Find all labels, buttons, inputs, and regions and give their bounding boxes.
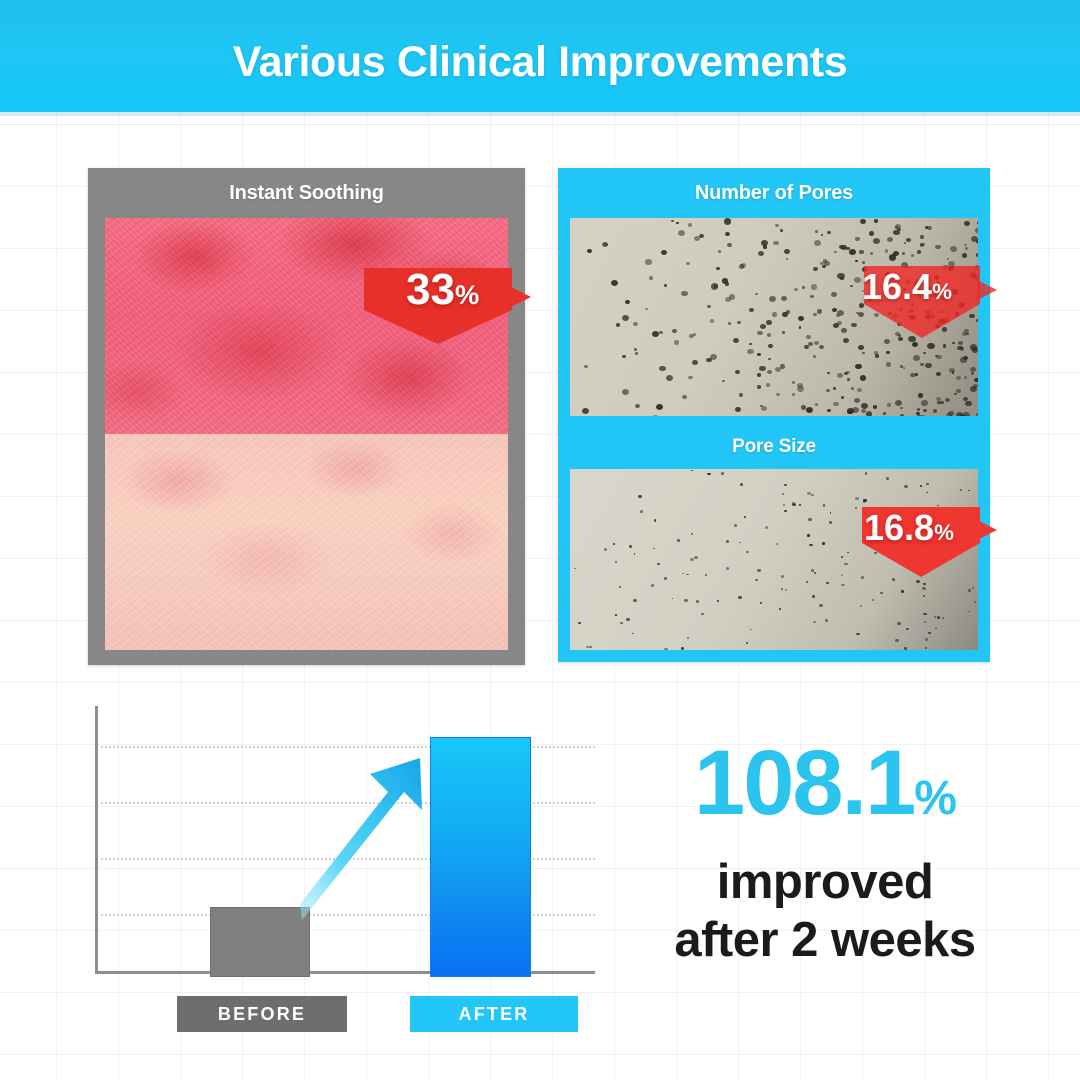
pore-dot [922, 587, 925, 590]
pore-dot [886, 351, 890, 354]
pore-dot [693, 333, 696, 336]
pore-dot [837, 373, 844, 379]
pore-dot [972, 347, 978, 353]
pore-dot [956, 389, 961, 393]
arrow-tail [977, 520, 997, 540]
pore-dot [831, 292, 837, 297]
pore-dot [687, 637, 690, 639]
pore-dot [784, 484, 786, 486]
pore-dot [694, 556, 698, 559]
pore-dot [971, 372, 975, 375]
pore-dot [812, 595, 815, 598]
pore-dot [809, 544, 812, 547]
pore-dot [873, 238, 880, 244]
pore-dot [968, 589, 972, 592]
pore-dot [779, 608, 782, 610]
skin-texture-overlay [105, 434, 508, 650]
pore-dot [711, 283, 719, 289]
pore-dot [760, 602, 763, 604]
pore-dot [917, 408, 920, 411]
pore-dot [857, 388, 863, 393]
pore-dot [975, 228, 978, 233]
pore-dot [813, 355, 817, 358]
pore-dot [724, 218, 731, 224]
pore-dot [807, 534, 811, 537]
pore-dot [968, 611, 970, 612]
pore-dot [672, 598, 674, 599]
pore-dot [705, 574, 707, 576]
pore-dot [678, 230, 685, 236]
pore-dot [786, 258, 789, 260]
pore-dot [962, 412, 969, 416]
pore-dot [735, 407, 741, 412]
pore-dot [664, 577, 667, 580]
pore-dot [634, 348, 637, 351]
pore-dot [874, 219, 878, 223]
header-banner: Various Clinical Improvements [0, 0, 1080, 112]
pore-dot [635, 404, 640, 409]
badge-value-pore-size: 16.8% [864, 507, 954, 549]
pore-dot [786, 310, 790, 314]
pore-dot [749, 343, 752, 345]
pore-dot [847, 410, 852, 414]
pore-dot [684, 599, 688, 602]
pore-dot [689, 334, 694, 338]
pore-dot [676, 222, 679, 225]
pore-dot [935, 628, 937, 630]
pore-dot [625, 300, 630, 304]
pore-dot [811, 284, 818, 290]
panel-instant-soothing: Instant Soothing [88, 168, 525, 665]
pore-dot [737, 321, 741, 324]
pore-dot [974, 601, 976, 603]
panel-title-instant-soothing: Instant Soothing [88, 168, 525, 218]
pore-dot [950, 246, 957, 252]
pore-dot [925, 647, 927, 649]
pore-dot [773, 241, 779, 246]
pore-dot [765, 526, 768, 529]
pore-dot [963, 356, 968, 360]
pore-dot [836, 314, 840, 317]
pore-dot [696, 600, 700, 603]
pore-dot [923, 409, 926, 412]
pore-dot [855, 237, 859, 241]
pore-dot [823, 504, 826, 506]
pore-dot [964, 244, 967, 246]
pore-dot [781, 296, 787, 301]
pore-dot [965, 247, 969, 250]
pore-dot [920, 485, 922, 487]
pore-dot [889, 254, 896, 260]
pore-dot [707, 473, 710, 476]
pore-dot [824, 261, 830, 266]
pore-dot [782, 493, 784, 495]
chart-y-axis [95, 706, 98, 974]
pore-dot [840, 277, 844, 280]
pore-dot [672, 329, 677, 333]
pore-dot [785, 589, 787, 591]
pore-dot [710, 319, 715, 323]
pore-dot [635, 352, 639, 355]
pore-dot [856, 633, 859, 636]
pore-dot [923, 613, 926, 616]
pore-dot [659, 366, 665, 371]
pore-dot [808, 518, 811, 521]
pore-dot [936, 372, 941, 376]
pore-dot [611, 280, 619, 286]
pore-dot [901, 590, 904, 592]
pore-dot [855, 507, 857, 509]
pore-dot [847, 378, 850, 381]
pore-dot [841, 556, 843, 558]
pore-dot [622, 389, 629, 395]
pore-dot [833, 387, 836, 390]
pore-dot [895, 639, 899, 642]
pore-dot [927, 343, 934, 349]
pore-dot [829, 521, 832, 524]
pore-dot [841, 584, 844, 587]
stat-caption-line1: improved [615, 853, 1035, 911]
pore-dot [664, 284, 668, 287]
pore-dot [801, 405, 807, 410]
pore-dot [584, 365, 588, 368]
pore-dot [854, 398, 861, 404]
pore-dot [884, 339, 890, 344]
pore-dot [843, 338, 849, 343]
panel-title-number-of-pores: Number of Pores [558, 168, 990, 218]
pore-dot [906, 628, 909, 630]
pore-dot [746, 642, 749, 644]
pore-dot [937, 616, 940, 619]
pore-dot [844, 372, 847, 375]
pore-dot [918, 393, 924, 398]
pore-dot [860, 219, 866, 224]
pore-dot [920, 243, 924, 247]
pore-dot [613, 543, 615, 545]
pore-dot [935, 245, 941, 250]
pore-dot [861, 403, 868, 409]
pore-dot [690, 558, 694, 561]
pore-dot [869, 231, 874, 236]
pore-dot [839, 245, 844, 249]
pore-dot [775, 224, 779, 227]
pore-dot [783, 504, 785, 506]
pore-dot [710, 354, 717, 360]
pore-dot [622, 355, 625, 358]
pore-dot [854, 277, 861, 283]
pore-dot [844, 563, 848, 566]
pore-dot [841, 396, 844, 399]
pore-dot [825, 619, 828, 622]
pore-dot [728, 322, 731, 325]
pore-dot [633, 322, 639, 327]
pore-dot [721, 472, 725, 475]
pore-dot [707, 305, 711, 308]
pore-dot [903, 367, 906, 369]
pore-dot [674, 340, 679, 345]
pore-dot [925, 363, 932, 369]
pore-dot [604, 243, 609, 247]
pore-dot [813, 267, 818, 271]
page-title: Various Clinical Improvements [0, 38, 1080, 86]
pore-dot [656, 404, 663, 410]
pore-dot [821, 234, 824, 236]
arrow-tail [509, 286, 531, 308]
pore-dot [851, 323, 857, 328]
pore-dot [645, 308, 648, 310]
pore-dot [814, 572, 816, 574]
pore-dot [923, 352, 926, 354]
pore-dot [651, 584, 654, 587]
pore-dot [928, 632, 931, 635]
pore-dot [739, 264, 744, 269]
pore-dot [734, 524, 738, 527]
growth-arrow-icon [300, 752, 440, 922]
pore-dot [911, 254, 914, 257]
pore-dot [861, 409, 866, 413]
pore-dot [681, 647, 684, 650]
pore-dot [883, 412, 886, 414]
pore-dot [574, 568, 576, 569]
pore-dot [923, 583, 926, 586]
pore-dot [833, 323, 839, 328]
pore-dot [942, 617, 944, 619]
pore-dot [859, 250, 863, 254]
pore-dot [892, 578, 895, 581]
pore-dot [880, 592, 883, 595]
pore-dot [629, 545, 633, 548]
pore-dot [682, 395, 687, 399]
pore-dot [850, 285, 853, 287]
pore-dot [925, 638, 928, 641]
pore-dot [833, 402, 839, 407]
pore-dot [749, 308, 754, 313]
pore-dot [784, 510, 787, 512]
pore-dot [735, 370, 740, 374]
pore-dot [586, 646, 589, 649]
pore-dot [895, 226, 898, 229]
pore-dot [886, 362, 892, 367]
pore-dot [768, 358, 772, 361]
pore-dot [620, 622, 623, 624]
pore-dot [977, 221, 978, 225]
pore-dot [798, 316, 804, 321]
pore-dot [739, 393, 743, 397]
pore-dot [780, 229, 783, 232]
pore-dot [659, 331, 663, 335]
pore-dot [886, 477, 890, 480]
badge-value-instant-soothing: 33% [406, 265, 479, 315]
pore-dot [827, 409, 831, 412]
pore-dot [691, 533, 693, 535]
pore-dot [810, 295, 814, 298]
pore-dot [616, 323, 621, 327]
skin-after-half [105, 434, 508, 650]
pore-dot [718, 250, 721, 253]
pore-dot [887, 237, 893, 242]
pore-dot [776, 393, 780, 396]
pore-dot [860, 605, 862, 607]
pore-dot [699, 234, 704, 238]
pore-dot [858, 345, 864, 350]
pore-dot [865, 472, 868, 474]
pore-dot [726, 540, 729, 543]
pore-dot [943, 344, 947, 347]
pore-dot [738, 596, 742, 599]
arrow-tail [977, 280, 997, 300]
pore-dot [664, 648, 668, 650]
pore-dot [958, 341, 963, 345]
pore-dot [750, 629, 752, 631]
pore-dot [957, 346, 962, 351]
pore-dot [926, 492, 928, 494]
pore-dot [769, 296, 776, 302]
pore-dot [763, 245, 768, 249]
pore-dot [622, 315, 629, 321]
pore-dot [900, 414, 904, 416]
pore-dot [692, 360, 698, 365]
pore-dot [615, 614, 617, 616]
pore-dot [634, 553, 636, 555]
pore-dot [906, 238, 911, 242]
pore-dot [917, 250, 922, 254]
pore-dot [755, 579, 758, 581]
pore-dot [863, 501, 865, 503]
pore-dot [902, 252, 906, 255]
pore-dot [893, 230, 899, 235]
pore-dot [632, 633, 634, 635]
pore-dot [940, 401, 944, 404]
pore-dot [965, 401, 972, 407]
pore-dot [815, 403, 818, 406]
pore-dot [722, 278, 729, 284]
arrow-head [364, 310, 512, 344]
pore-dot [633, 599, 637, 602]
pore-dot [870, 252, 874, 255]
pore-dot [686, 574, 688, 576]
pore-dot [968, 490, 970, 492]
pore-dot [757, 385, 761, 389]
pore-dot [972, 587, 975, 589]
pore-dot [688, 223, 693, 227]
pore-dot [976, 413, 978, 416]
pore-dot [872, 599, 875, 602]
pore-dot [847, 552, 849, 554]
pore-dot [804, 345, 809, 349]
pore-dot [733, 338, 739, 343]
pore-dot [949, 368, 955, 373]
pore-dot [792, 381, 795, 384]
pore-dot [954, 393, 957, 396]
pore-dot [794, 288, 798, 291]
axis-label-before: BEFORE [177, 996, 347, 1032]
pore-dot [657, 563, 660, 565]
pore-dot [604, 548, 608, 551]
pore-dot [649, 276, 654, 280]
pore-dot [904, 485, 907, 488]
pore-dot [826, 389, 830, 392]
pore-dot [767, 333, 771, 337]
pore-dot [806, 335, 812, 340]
pore-dot [726, 567, 729, 570]
pore-dot [814, 341, 819, 345]
pore-dot [819, 345, 824, 349]
pore-dot [897, 622, 901, 625]
pore-dot [759, 366, 766, 372]
pore-dot [860, 375, 866, 380]
pore-dot [716, 267, 720, 270]
pore-dot [760, 324, 767, 330]
pore-dot [913, 355, 920, 361]
before-after-bar-chart [95, 700, 595, 980]
pore-dot [767, 370, 772, 374]
pore-dot [797, 383, 803, 388]
pore-dot [924, 621, 926, 623]
pore-dot [626, 618, 630, 621]
pore-dot [717, 600, 719, 602]
pore-dot [799, 504, 801, 506]
pore-dot [782, 331, 785, 334]
pore-dot [862, 261, 865, 264]
pore-dot [757, 569, 761, 572]
pore-dot [855, 260, 858, 263]
pore-dot [757, 331, 763, 336]
pore-dot [855, 364, 861, 369]
pore-dot [933, 409, 938, 413]
pore-dot [677, 539, 681, 542]
panel-title-pore-size: Pore Size [558, 425, 990, 469]
pore-dot [722, 380, 725, 382]
pore-dot [923, 595, 926, 597]
pore-dot [619, 586, 621, 588]
pore-dot [827, 231, 831, 234]
pore-dot [947, 258, 950, 260]
pore-dot [776, 543, 778, 545]
pore-dot [747, 349, 754, 355]
pore-dot [916, 580, 920, 583]
pore-dot [671, 220, 674, 222]
pore-dot [784, 249, 790, 254]
pore-dot [973, 384, 978, 388]
pore-dot [654, 519, 657, 521]
pore-dot [956, 412, 963, 416]
pore-dot [855, 497, 859, 500]
pore-dot [851, 387, 855, 390]
pore-dot [862, 352, 865, 354]
bar-before [210, 907, 310, 977]
pore-dot [866, 411, 872, 416]
arrow-head [864, 304, 980, 338]
pore-dot [807, 492, 811, 495]
pore-dot [792, 393, 796, 396]
pore-dot [653, 415, 658, 416]
pore-dot [757, 353, 761, 356]
pore-dot [640, 510, 643, 513]
pore-dot [916, 415, 922, 416]
pore-dot [799, 326, 802, 328]
pore-dot [681, 291, 688, 297]
pore-dot [813, 621, 816, 623]
pore-dot [887, 403, 891, 407]
pore-dot [757, 373, 761, 376]
pore-dot [638, 495, 642, 498]
pore-dot [963, 397, 968, 401]
pore-dot [688, 376, 692, 380]
pore-dot [761, 406, 768, 412]
pore-dot [952, 342, 955, 345]
pore-dot [661, 250, 667, 255]
pore-dot [974, 378, 978, 383]
